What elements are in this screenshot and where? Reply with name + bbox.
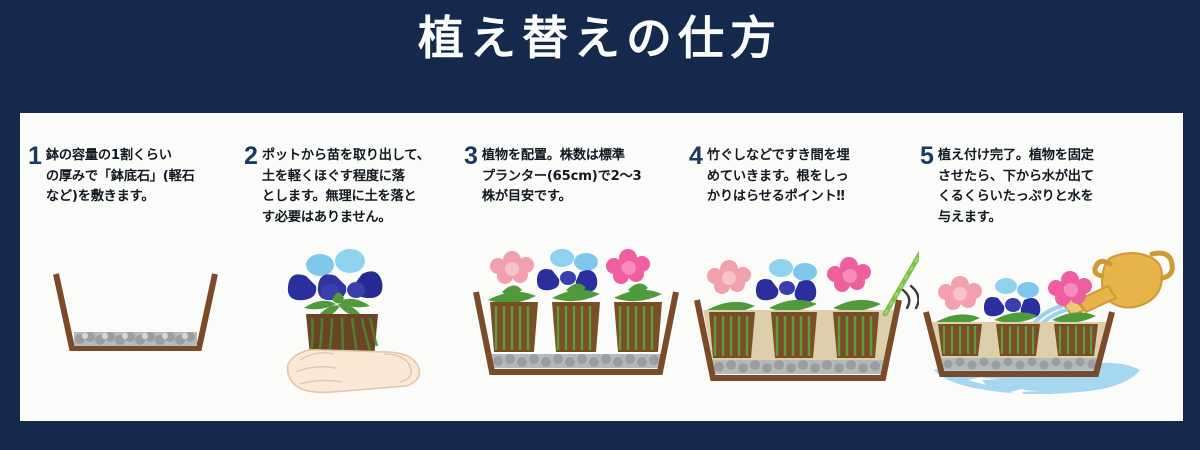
step-4: 4 竹ぐしなどですき間を埋 めていきます。根をしっ かりはらせるポイント‼ xyxy=(689,113,919,421)
step-3-number: 3 xyxy=(464,146,482,166)
step-5-text: 植え付け完了。植物を固定 させたら、下から水が出て くるくらいたっぷりと水を 与… xyxy=(938,146,1178,228)
pansy-flowers-icon xyxy=(288,249,383,300)
flowers-icon xyxy=(707,257,871,302)
step-2-illustration xyxy=(244,236,472,411)
root-balls-icon xyxy=(490,302,662,352)
step-5-illustration xyxy=(920,236,1178,411)
flower-pink-right xyxy=(606,249,650,284)
pebble-layer-icon xyxy=(74,332,197,346)
step-1: 1 鉢の容量の1割くらい の厚みで「鉢底石」(軽石 など)を敷きます。 xyxy=(28,113,243,421)
step-3-illustration xyxy=(464,236,686,411)
pebble-layer-icon xyxy=(940,358,1098,371)
step-1-number: 1 xyxy=(28,146,46,166)
page-title: 植え替えの仕方 xyxy=(0,14,1200,62)
motion-arc-icon xyxy=(903,286,919,308)
step-5: 5 植え付け完了。植物を固定 させたら、下から水が出て くるくらいたっぷりと水を… xyxy=(920,113,1178,421)
step-2: 2 ポットから苗を取り出して、 土を軽くほぐす程度に落 とします。無理に土を落と… xyxy=(244,113,472,421)
step-3-heading: 3 植物を配置。株数は標準 プランター(65cm)で2〜3 株が目安です。 xyxy=(464,146,686,208)
step-1-heading: 1 鉢の容量の1割くらい の厚みで「鉢底石」(軽石 など)を敷きます。 xyxy=(28,146,243,208)
step-2-heading: 2 ポットから苗を取り出して、 土を軽くほぐす程度に落 とします。無理に土を落と… xyxy=(244,146,472,228)
pebble-layer-icon xyxy=(490,354,662,368)
root-balls-icon xyxy=(709,312,879,358)
pebble-layer-icon xyxy=(711,360,885,374)
steps-container: 1 鉢の容量の1割くらい の厚みで「鉢底石」(軽石 など)を敷きます。 xyxy=(20,113,1183,421)
infographic-page: 植え替えの仕方 1 鉢の容量の1割くらい の厚みで「鉢底石」(軽石 など)を敷き… xyxy=(0,0,1200,450)
steps-panel: 1 鉢の容量の1割くらい の厚みで「鉢底石」(軽石 など)を敷きます。 xyxy=(20,113,1183,421)
step-1-illustration xyxy=(28,236,243,411)
step-2-number: 2 xyxy=(244,146,262,166)
step-4-text: 竹ぐしなどですき間を埋 めていきます。根をしっ かりはらせるポイント‼ xyxy=(707,146,919,208)
root-balls-icon xyxy=(938,324,1098,356)
flower-pink-left xyxy=(490,251,534,284)
step-3-text: 植物を配置。株数は標準 プランター(65cm)で2〜3 株が目安です。 xyxy=(482,146,686,208)
hand-icon xyxy=(288,350,420,393)
bamboo-skewer-icon xyxy=(885,236,919,314)
step-4-number: 4 xyxy=(689,146,707,166)
flower-pansy-middle xyxy=(537,249,598,292)
step-5-heading: 5 植え付け完了。植物を固定 させたら、下から水が出て くるくらいたっぷりと水を… xyxy=(920,146,1178,228)
step-3: 3 植物を配置。株数は標準 プランター(65cm)で2〜3 株が目安です。 xyxy=(464,113,686,421)
step-4-illustration xyxy=(689,236,919,411)
step-4-heading: 4 竹ぐしなどですき間を埋 めていきます。根をしっ かりはらせるポイント‼ xyxy=(689,146,919,208)
foliage-icon xyxy=(488,283,662,303)
step-1-text: 鉢の容量の1割くらい の厚みで「鉢底石」(軽石 など)を敷きます。 xyxy=(46,146,243,208)
step-2-text: ポットから苗を取り出して、 土を軽くほぐす程度に落 とします。無理に土を落と す… xyxy=(262,146,472,228)
step-5-number: 5 xyxy=(920,146,938,166)
